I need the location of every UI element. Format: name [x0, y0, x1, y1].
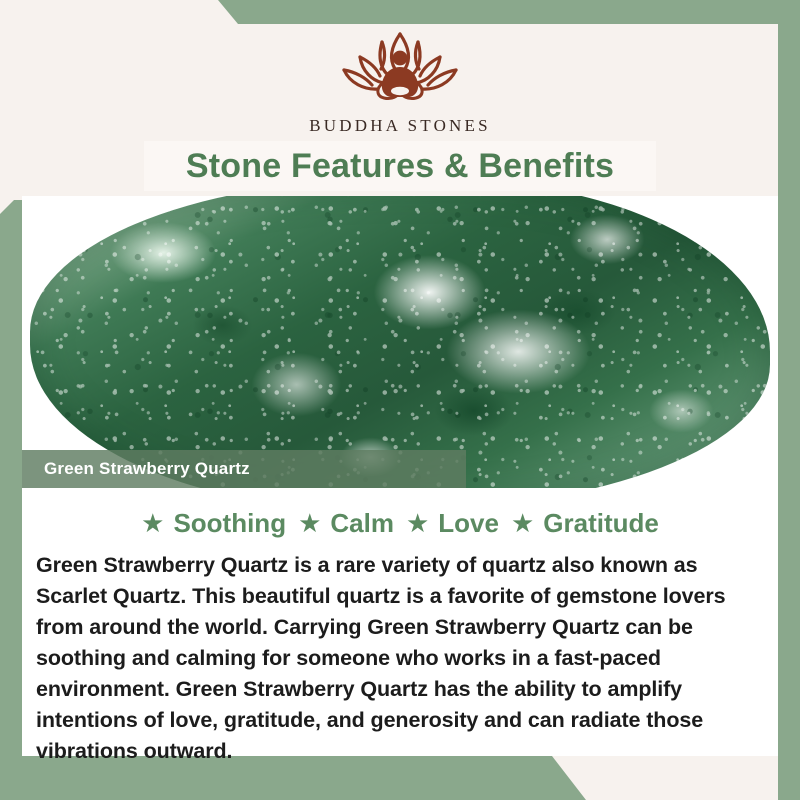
description-paragraph: Green Strawberry Quartz is a rare variet… — [36, 550, 764, 767]
keyword-item-calm: ★ Calm — [298, 510, 394, 536]
keyword-label: Gratitude — [543, 510, 659, 536]
brand-logo: BUDDHA STONES — [0, 26, 800, 136]
photo-caption-bar: Green Strawberry Quartz — [22, 450, 466, 488]
star-icon: ★ — [141, 510, 164, 536]
infographic-page: BUDDHA STONES Stone Features & Benefits … — [0, 0, 800, 800]
star-icon: ★ — [406, 510, 429, 536]
stone-photo: Green Strawberry Quartz — [22, 196, 778, 488]
title-band: Stone Features & Benefits — [144, 141, 656, 191]
keyword-list: ★ Soothing ★ Calm ★ Love ★ Gratitude — [22, 488, 778, 536]
keyword-item-gratitude: ★ Gratitude — [511, 510, 659, 536]
frame-top-right-decoration — [0, 0, 800, 24]
keyword-label: Love — [438, 510, 499, 536]
keyword-item-soothing: ★ Soothing — [141, 510, 286, 536]
frame-left-border — [0, 200, 22, 800]
keyword-item-love: ★ Love — [406, 510, 499, 536]
star-icon: ★ — [511, 510, 534, 536]
brand-name: BUDDHA STONES — [0, 116, 800, 136]
keyword-label: Soothing — [173, 510, 286, 536]
star-icon: ★ — [298, 510, 321, 536]
stone-image — [30, 196, 770, 488]
lotus-meditation-figure-icon — [320, 26, 480, 112]
content-panel: ★ Soothing ★ Calm ★ Love ★ Gratitude Gre… — [22, 488, 778, 756]
page-title: Stone Features & Benefits — [186, 147, 614, 186]
photo-caption-label: Green Strawberry Quartz — [22, 459, 250, 479]
keyword-label: Calm — [330, 510, 394, 536]
stone-texture-overlay — [30, 196, 770, 488]
